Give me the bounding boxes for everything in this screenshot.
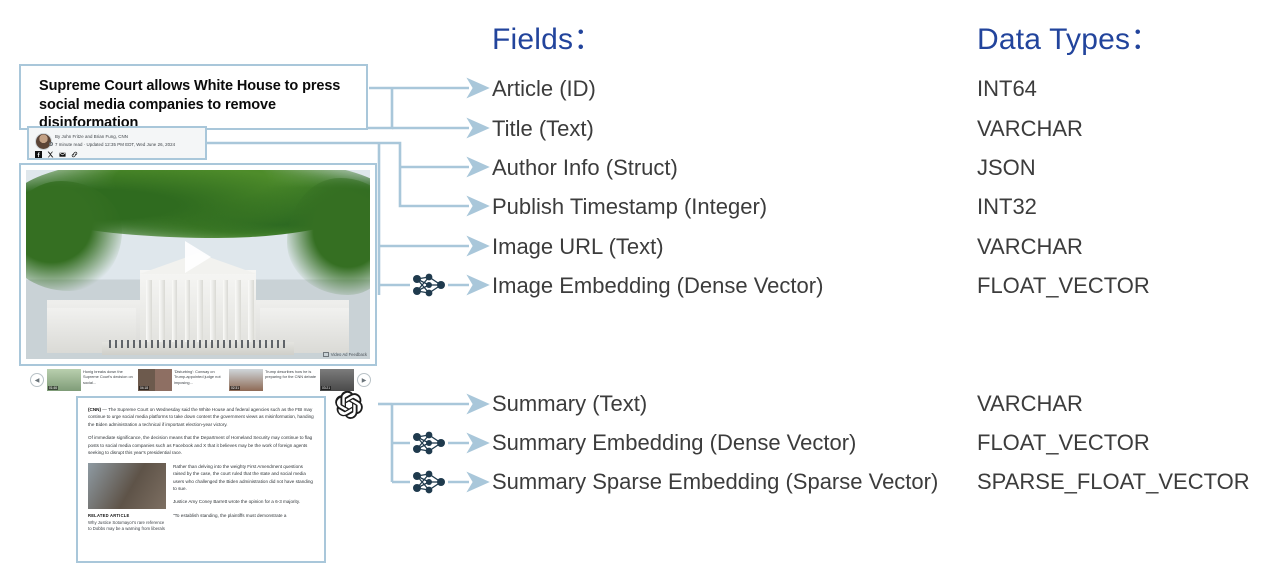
- x-twitter-icon[interactable]: [47, 151, 54, 158]
- thumbnail-item[interactable]: 04:18 'Disturbing': Conway on Trump-appo…: [138, 369, 226, 391]
- facebook-icon[interactable]: [35, 151, 42, 158]
- summary-paragraph-4: Justice Amy Coney Barrett wrote the opin…: [173, 498, 314, 505]
- summary-paragraph-1: — The Supreme Court on Wednesday said th…: [88, 407, 314, 427]
- summary-paragraph-2: Of immediate significance, the decision …: [88, 434, 314, 456]
- related-article-thumbnail: [88, 463, 166, 509]
- thumbnail-caption: 'Disturbing': Conway on Trump-appointed …: [174, 369, 226, 385]
- neural-network-icon: [409, 468, 449, 496]
- diagram-canvas: Fields： Data Types： Article (ID) Title (…: [0, 0, 1280, 571]
- article-photo-card[interactable]: Video Ad Feedback: [19, 163, 377, 366]
- article-summary-card[interactable]: (CNN) — The Supreme Court on Wednesday s…: [76, 396, 326, 563]
- related-article-block[interactable]: RELATED ARTICLE Why Justice Sotomayor's …: [88, 463, 166, 533]
- carousel-next-icon[interactable]: ▶: [357, 373, 371, 387]
- source-tag: (CNN): [88, 407, 101, 412]
- article-headline: Supreme Court allows White House to pres…: [39, 77, 354, 133]
- supreme-court-photo: Video Ad Feedback: [26, 170, 370, 359]
- neural-network-icon: [409, 429, 449, 457]
- play-button-icon[interactable]: [185, 241, 211, 273]
- thumbnail-caption: Honig breaks down the Supreme Court's de…: [83, 369, 135, 385]
- article-headline-card[interactable]: Supreme Court allows White House to pres…: [19, 64, 368, 130]
- thumbnail-duration: 03:21: [321, 386, 331, 390]
- thumbnail-duration: 04:18: [139, 386, 149, 390]
- article-byline-card: By John Fritze and Brian Fung, CNN 7 min…: [27, 126, 207, 160]
- carousel-prev-icon[interactable]: ◀: [30, 373, 44, 387]
- clock-icon: [49, 142, 53, 146]
- video-ad-feedback-text: Video Ad Feedback: [331, 352, 367, 357]
- video-ad-feedback-label[interactable]: Video Ad Feedback: [323, 352, 367, 358]
- summary-lead-paragraph: (CNN) — The Supreme Court on Wednesday s…: [88, 406, 314, 428]
- thumbnail-item[interactable]: 03:21: [320, 369, 354, 391]
- summary-paragraph-5: "To establish standing, the plaintiffs m…: [173, 512, 314, 519]
- neural-network-icon: [409, 271, 449, 299]
- thumbnail-duration: 02:31: [230, 386, 240, 390]
- thumbnail-item[interactable]: 02:31 Trump describes how he is preparin…: [229, 369, 317, 391]
- link-icon[interactable]: [71, 151, 78, 158]
- byline-authors: By John Fritze and Brian Fung, CNN: [55, 134, 128, 139]
- openai-logo-icon: [335, 391, 363, 419]
- thumbnail-item[interactable]: 01:46 Honig breaks down the Supreme Cour…: [47, 369, 135, 391]
- related-article-kicker: RELATED ARTICLE: [88, 513, 166, 518]
- share-row[interactable]: [35, 151, 78, 158]
- summary-paragraph-3: Rather than delving into the weighty Fir…: [173, 463, 314, 493]
- byline-meta: 7 minute read · Updated 12:35 PM EDT, We…: [55, 142, 175, 147]
- email-icon[interactable]: [59, 151, 66, 158]
- video-thumbnail-strip[interactable]: ◀ 01:46 Honig breaks down the Supreme Co…: [30, 368, 370, 392]
- related-article-caption[interactable]: Why Justice Sotomayor's rare reference t…: [88, 520, 166, 533]
- feedback-box-icon: [323, 352, 329, 358]
- thumbnail-caption: Trump describes how he is preparing for …: [265, 369, 317, 380]
- thumbnail-duration: 01:46: [48, 386, 58, 390]
